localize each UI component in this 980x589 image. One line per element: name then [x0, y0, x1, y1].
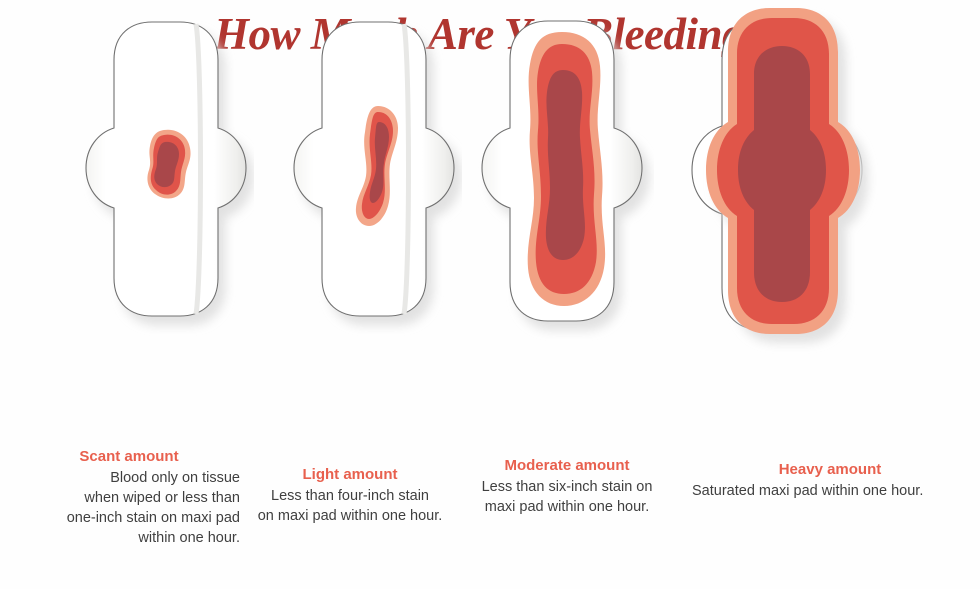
caption-heavy: Heavy amount Saturated maxi pad within o…	[692, 459, 968, 501]
figure-heavy-pad	[688, 0, 878, 440]
caption-line: one-inch stain on maxi pad	[18, 508, 240, 528]
caption-line: Less than six-inch stain on	[456, 477, 678, 497]
caption-line: when wiped or less than	[18, 488, 240, 508]
blood-stain-heavy	[706, 8, 860, 334]
caption-body-heavy: Saturated maxi pad within one hour.	[692, 481, 968, 501]
caption-light: Light amount Less than four-inch stain o…	[250, 464, 450, 526]
caption-body-scant: Blood only on tissue when wiped or less …	[18, 468, 240, 548]
caption-heading-moderate: Moderate amount	[456, 455, 678, 476]
caption-line: Blood only on tissue	[18, 468, 240, 488]
blood-stain-moderate	[528, 32, 605, 306]
caption-moderate: Moderate amount Less than six-inch stain…	[456, 455, 678, 517]
infographic-page: { "title": "How Much Are You Bleeding?",…	[0, 0, 980, 589]
pad-illustrations-row	[0, 0, 980, 440]
caption-line: on maxi pad within one hour.	[250, 506, 450, 526]
caption-body-light: Less than four-inch stain on maxi pad wi…	[250, 486, 450, 526]
caption-line: Saturated maxi pad within one hour.	[692, 481, 968, 501]
caption-heading-light: Light amount	[250, 464, 450, 485]
caption-line: maxi pad within one hour.	[456, 497, 678, 517]
figure-scant-pad	[84, 0, 254, 440]
caption-heading-scant: Scant amount	[18, 446, 240, 467]
caption-heading-heavy: Heavy amount	[692, 459, 968, 480]
caption-scant: Scant amount Blood only on tissue when w…	[18, 446, 240, 548]
figure-moderate-pad	[474, 0, 654, 440]
caption-line: Less than four-inch stain	[250, 486, 450, 506]
caption-line: within one hour.	[18, 528, 240, 548]
figure-light-pad	[292, 0, 462, 440]
caption-body-moderate: Less than six-inch stain on maxi pad wit…	[456, 477, 678, 517]
